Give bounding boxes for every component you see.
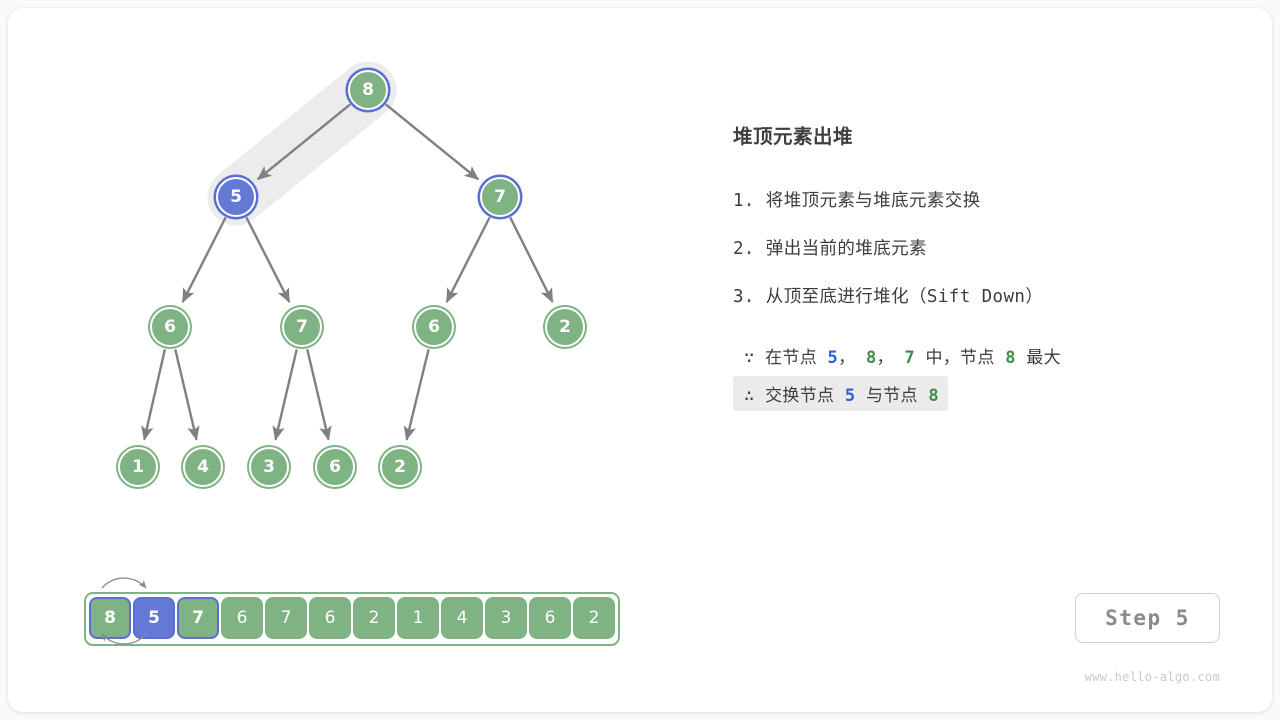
tree-edge-n3-n7 — [144, 349, 165, 439]
array-cell-7: 1 — [397, 597, 439, 639]
tree-node-value: 5 — [230, 187, 242, 207]
step-badge: Step 5 — [1075, 593, 1220, 643]
because-mid: 中，节点 — [925, 348, 994, 368]
tree-edge-n2-n5 — [447, 218, 490, 303]
array-cell-value: 3 — [501, 608, 512, 628]
array-cell-0: 8 — [89, 597, 131, 639]
array-cell-value: 6 — [545, 608, 556, 628]
therefore-prefix: 交换节点 — [765, 386, 834, 406]
array-cell-5: 6 — [309, 597, 351, 639]
array-cell-value: 8 — [104, 608, 116, 628]
array-cell-8: 4 — [441, 597, 483, 639]
because-symbol: ∵ — [744, 348, 755, 368]
because-sep-2: ， — [877, 348, 894, 368]
tree-node-n8: 4 — [183, 447, 223, 487]
because-prefix: 在节点 — [765, 348, 817, 368]
tree-node-n7: 1 — [118, 447, 158, 487]
step-item-2: 2. 弹出当前的堆底元素 — [733, 235, 1233, 260]
array-swap-arrow-forward — [102, 578, 146, 588]
tree-node-n1: 5 — [216, 177, 256, 217]
tree-node-value: 6 — [428, 317, 440, 337]
diagram-stage: 857676214362 857676214362 堆顶元素出堆 1. 将堆顶元… — [0, 0, 1272, 712]
tree-node-n5: 6 — [414, 307, 454, 347]
tree-edge-n0-n1 — [258, 104, 350, 179]
sift-down-highlight-band — [236, 90, 368, 197]
because-suffix: 最大 — [1026, 348, 1061, 368]
tree-node-value: 1 — [132, 457, 144, 477]
tree-node-value: 2 — [559, 317, 571, 337]
tree-node-value: 4 — [197, 457, 209, 477]
tree-node-n4: 7 — [282, 307, 322, 347]
tree-node-n10: 6 — [315, 447, 355, 487]
tree-edge-n2-n6 — [510, 218, 552, 302]
because-node-3: 7 — [904, 348, 915, 368]
array-cell-9: 3 — [485, 597, 527, 639]
tree-node-n6: 2 — [545, 307, 585, 347]
tree-node-value: 3 — [263, 457, 275, 477]
therefore-node-1: 5 — [845, 386, 856, 406]
therefore-mid: 与节点 — [866, 386, 918, 406]
array-cell-6: 2 — [353, 597, 395, 639]
reasoning-block: ∵ 在节点 5， 8， 7 中，节点 8 最大 ∴ 交换节点 5 与节点 8 — [733, 338, 1233, 411]
because-node-1: 5 — [828, 348, 839, 368]
tree-edge-n5-n11 — [407, 349, 429, 439]
array-cell-3: 6 — [221, 597, 263, 639]
tree-node-value: 2 — [394, 457, 406, 477]
array-cell-value: 5 — [148, 608, 160, 628]
tree-edge-n1-n4 — [246, 218, 289, 303]
array-cell-2: 7 — [177, 597, 219, 639]
because-line: ∵ 在节点 5， 8， 7 中，节点 8 最大 — [733, 338, 1070, 373]
array-cell-value: 4 — [457, 608, 468, 628]
tree-node-value: 7 — [494, 187, 506, 207]
therefore-line: ∴ 交换节点 5 与节点 8 — [733, 376, 948, 411]
array-cell-value: 6 — [237, 608, 248, 628]
tree-edge-n0-n2 — [386, 104, 478, 179]
array-cell-11: 2 — [573, 597, 615, 639]
tree-node-value: 7 — [296, 317, 308, 337]
therefore-symbol: ∴ — [744, 386, 755, 406]
tree-node-n2: 7 — [480, 177, 520, 217]
array-cell-value: 2 — [369, 608, 380, 628]
tree-node-n11: 2 — [380, 447, 420, 487]
step-item-3: 3. 从顶至底进行堆化（Sift Down） — [733, 283, 1233, 308]
page-title: 堆顶元素出堆 — [733, 120, 1233, 149]
tree-edge-n4-n10 — [307, 349, 328, 439]
array-cell-value: 6 — [325, 608, 336, 628]
tree-edge-n1-n3 — [183, 218, 226, 303]
tree-node-n9: 3 — [249, 447, 289, 487]
array-cell-value: 2 — [589, 608, 600, 628]
array-cell-1: 5 — [133, 597, 175, 639]
array-cell-value: 1 — [413, 608, 424, 628]
step-item-1: 1. 将堆顶元素与堆底元素交换 — [733, 187, 1233, 212]
therefore-node-2: 8 — [928, 386, 939, 406]
array-cell-value: 7 — [192, 608, 204, 628]
explanation-panel: 堆顶元素出堆 1. 将堆顶元素与堆底元素交换 2. 弹出当前的堆底元素 3. 从… — [733, 120, 1233, 411]
because-node-4: 8 — [1005, 348, 1016, 368]
because-sep-1: ， — [838, 348, 855, 368]
tree-node-value: 6 — [164, 317, 176, 337]
tree-node-n0: 8 — [348, 70, 388, 110]
tree-edge-n3-n8 — [175, 349, 196, 439]
tree-node-value: 8 — [362, 80, 374, 100]
array-cell-value: 7 — [281, 608, 292, 628]
because-node-2: 8 — [866, 348, 877, 368]
array-cell-10: 6 — [529, 597, 571, 639]
tree-node-n3: 6 — [150, 307, 190, 347]
watermark: www.hello-algo.com — [1068, 670, 1220, 684]
heap-array: 857676214362 — [84, 592, 620, 646]
array-cell-4: 7 — [265, 597, 307, 639]
tree-node-value: 6 — [329, 457, 341, 477]
tree-edge-n4-n9 — [275, 349, 296, 439]
